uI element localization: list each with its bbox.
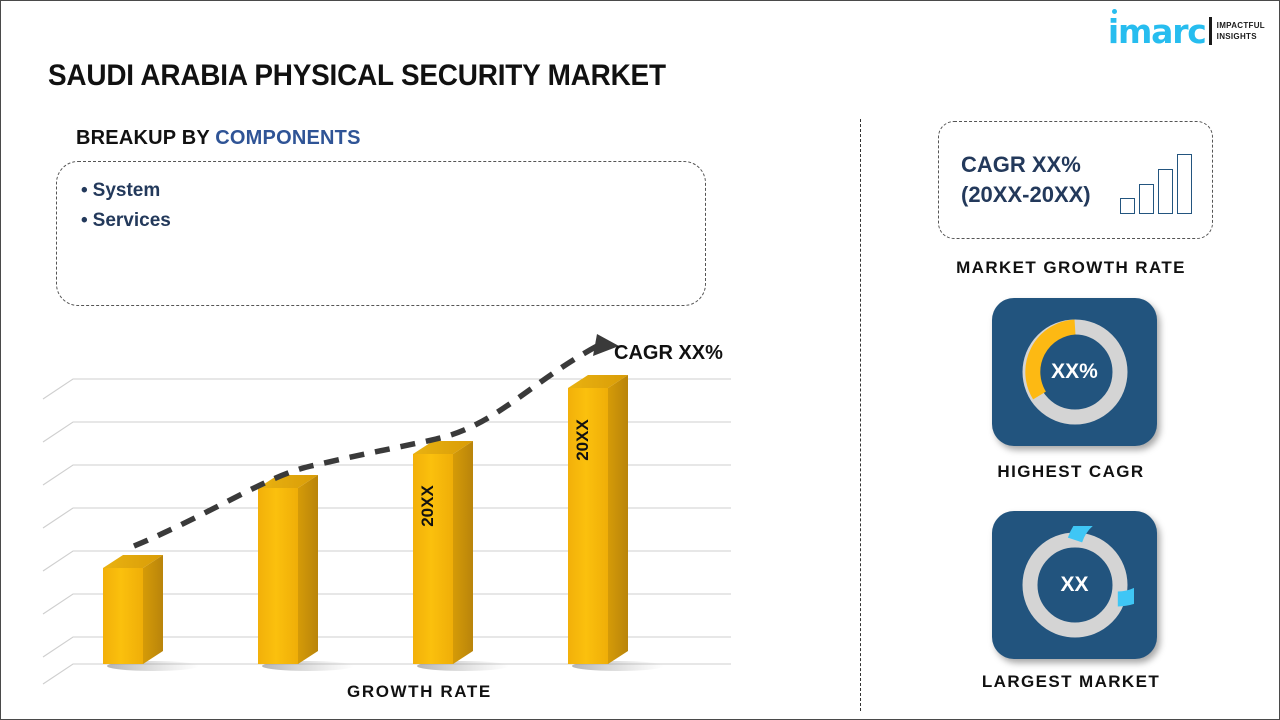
cagr-value: CAGR XX% <box>961 150 1091 180</box>
chart-bar <box>258 475 318 664</box>
chart-bar: 20XX <box>568 375 628 664</box>
logo-divider <box>1209 17 1212 45</box>
largest-market-donut <box>1016 526 1134 644</box>
breakup-highlight: COMPONENTS <box>215 127 360 149</box>
market-growth-rate-caption: MARKET GROWTH RATE <box>856 258 1280 278</box>
cagr-period: (20XX-20XX) <box>961 180 1091 210</box>
chart-bar <box>103 555 163 664</box>
breakup-heading: BREAKUP BY COMPONENTS <box>76 127 361 150</box>
bar-value-label: 20XX <box>573 419 592 461</box>
growth-bars-icon <box>1120 154 1192 214</box>
logo-tagline-line2: INSIGHTS <box>1217 31 1265 42</box>
list-item-label: System <box>93 180 161 201</box>
list-item: •System <box>81 176 705 206</box>
growth-bar-2 <box>1139 184 1154 214</box>
bar-value-label: 20XX <box>418 485 437 527</box>
growth-bar-4 <box>1177 154 1192 214</box>
infographic-canvas: imarc IMPACTFUL INSIGHTS SAUDI ARABIA PH… <box>0 0 1280 720</box>
imarc-logo: imarc IMPACTFUL INSIGHTS <box>1108 11 1265 51</box>
growth-bar-chart: 20XX 20XX <box>41 326 801 706</box>
logo-wordmark: imarc <box>1108 15 1206 48</box>
chart-xaxis-label: GROWTH RATE <box>347 682 492 702</box>
logo-wordmark-text: imarc <box>1108 12 1206 51</box>
largest-market-card: XX <box>992 511 1157 659</box>
chart-svg: 20XX 20XX <box>41 326 801 706</box>
breakup-prefix: BREAKUP BY <box>76 127 210 149</box>
highest-cagr-card: XX% <box>992 298 1157 446</box>
list-item: •Services <box>81 206 705 236</box>
largest-market-caption: LARGEST MARKET <box>856 672 1280 692</box>
components-list-box: •System •Services <box>56 161 706 306</box>
logo-tagline: IMPACTFUL INSIGHTS <box>1217 20 1265 42</box>
chart-bar: 20XX <box>413 441 473 664</box>
logo-dot-icon <box>1112 9 1117 14</box>
highest-cagr-caption: HIGHEST CAGR <box>856 462 1280 482</box>
panel-divider <box>860 119 861 711</box>
growth-bar-3 <box>1158 169 1173 214</box>
logo-tagline-line1: IMPACTFUL <box>1217 20 1265 31</box>
market-growth-rate-card: CAGR XX% (20XX-20XX) <box>938 121 1213 239</box>
chart-cagr-label: CAGR XX% <box>614 342 723 365</box>
list-item-label: Services <box>93 210 171 231</box>
cagr-text: CAGR XX% (20XX-20XX) <box>961 150 1091 210</box>
growth-bar-1 <box>1120 198 1135 214</box>
donut-arc <box>1032 327 1074 396</box>
chart-trendline <box>134 334 619 546</box>
page-title: SAUDI ARABIA PHYSICAL SECURITY MARKET <box>48 59 666 93</box>
bullet-icon: • <box>81 180 88 201</box>
bullet-icon: • <box>81 210 88 231</box>
highest-cagr-donut <box>1016 313 1134 431</box>
